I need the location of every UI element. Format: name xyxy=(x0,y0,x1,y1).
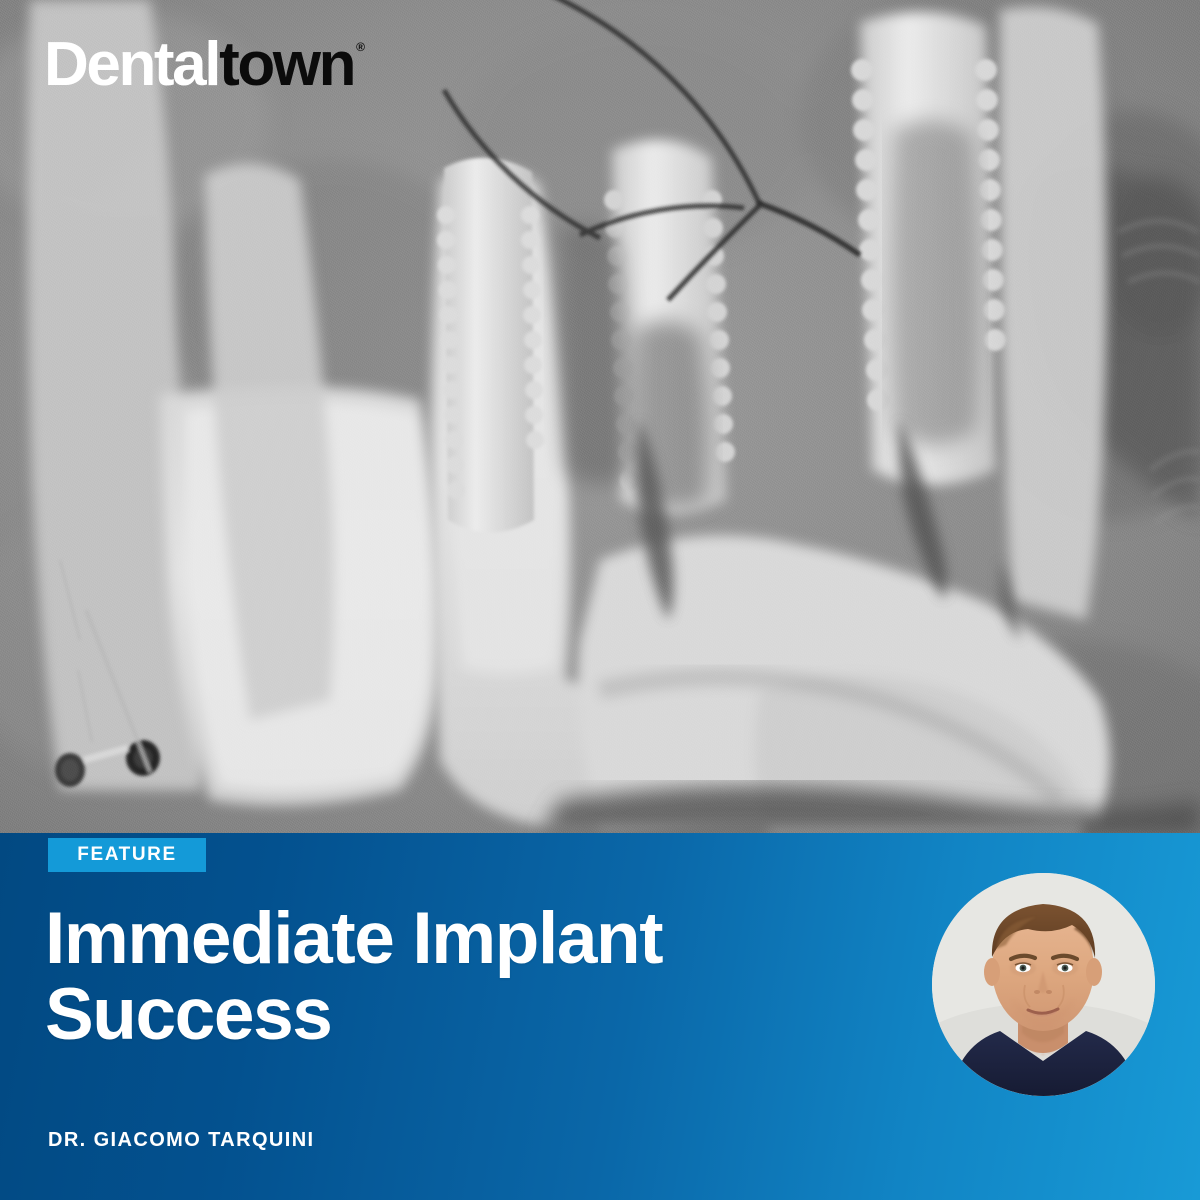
dental-xray-image xyxy=(0,0,1200,833)
feature-badge-label: FEATURE xyxy=(77,844,177,866)
registered-trademark-icon: ® xyxy=(356,41,365,53)
author-avatar[interactable] xyxy=(932,873,1155,1096)
article-author: DR. GIACOMO TARQUINI xyxy=(48,1129,315,1152)
feature-badge[interactable]: FEATURE xyxy=(48,838,206,872)
dentaltown-logo[interactable]: Dentaltown® xyxy=(44,34,363,96)
logo-dental-text: Dental xyxy=(44,34,219,96)
feature-card: Dentaltown® FEATURE Immediate Implant Su… xyxy=(0,0,1200,1200)
article-title: Immediate Implant Success xyxy=(45,901,785,1053)
logo-town-text: town xyxy=(219,34,354,96)
